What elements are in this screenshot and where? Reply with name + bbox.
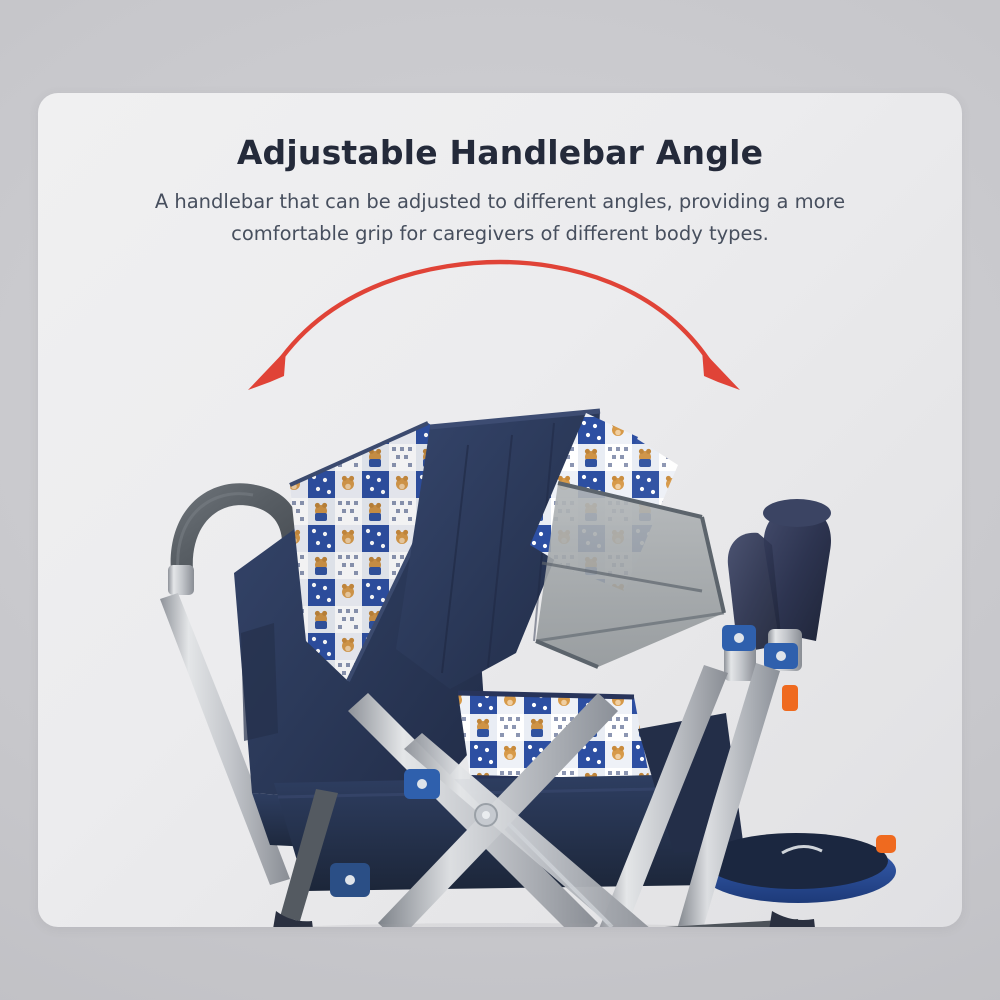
page-subtitle: A handlebar that can be adjusted to diff… bbox=[95, 186, 905, 249]
page-root: Adjustable Handlebar Angle A handlebar t… bbox=[0, 0, 1000, 1000]
feature-card: Adjustable Handlebar Angle A handlebar t… bbox=[38, 93, 962, 927]
footrest-tray bbox=[700, 833, 896, 903]
text-block: Adjustable Handlebar Angle A handlebar t… bbox=[38, 93, 962, 249]
mesh-canopy bbox=[536, 483, 724, 667]
page-title: Adjustable Handlebar Angle bbox=[38, 133, 962, 172]
